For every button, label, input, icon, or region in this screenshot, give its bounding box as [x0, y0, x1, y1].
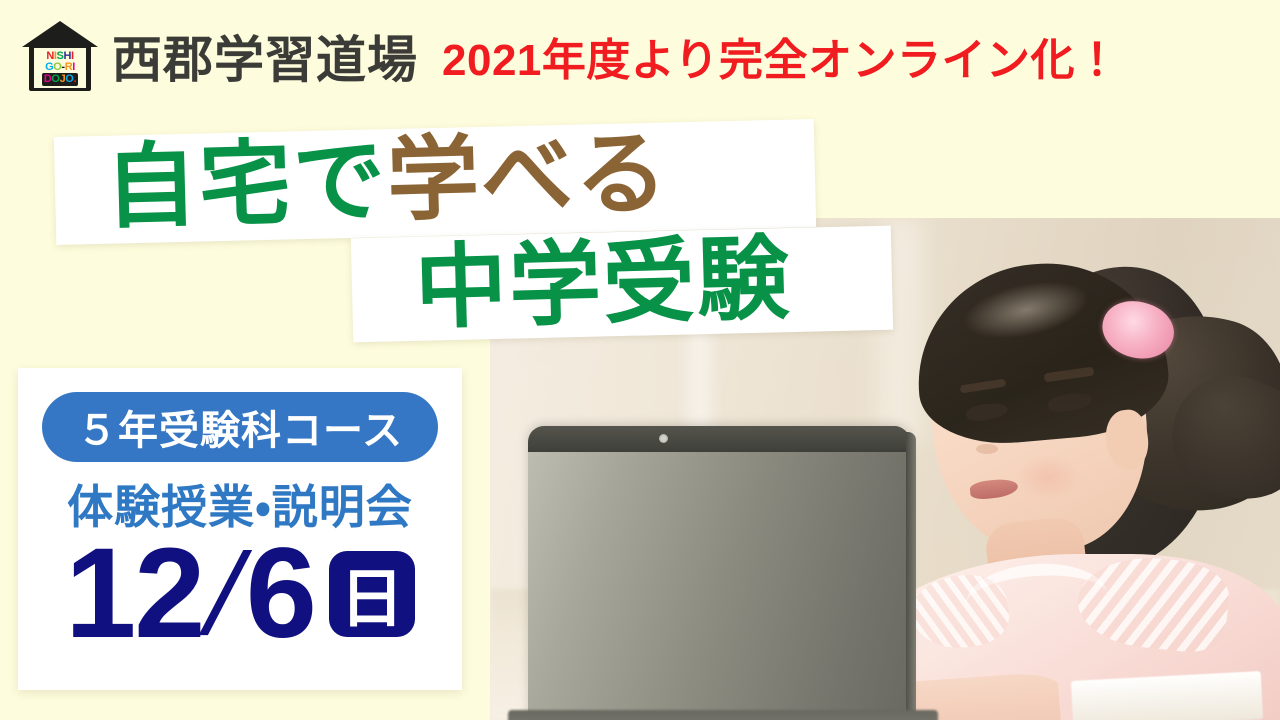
headline-line-1-green: 自宅で: [104, 130, 389, 239]
laptop-screen-back: [528, 426, 910, 720]
brand-name: 西郡学習道場: [112, 20, 418, 92]
girl-nose: [976, 444, 998, 454]
headline-line-2: 中学受験: [414, 229, 793, 339]
event-info-card: ５年受験科コース 体験授業・説明会 12 / 6 日: [18, 368, 462, 690]
logo-inner: NISHI GO-RI DOJO.: [34, 48, 86, 88]
event-date-dayofweek-badge: 日: [329, 551, 415, 637]
laptop-camera-icon: [659, 434, 668, 443]
logo-roof: [22, 21, 98, 47]
event-date-day: 6: [246, 530, 317, 658]
course-badge-label: ５年受験科コース: [77, 398, 403, 456]
laptop-side-edge: [906, 432, 916, 720]
headline-line-1-brown: 学べる: [386, 123, 671, 232]
laptop-hinge-bezel: [528, 426, 910, 452]
logo-text-dojo: DOJO.: [42, 73, 78, 86]
event-date-month: 12: [65, 530, 203, 658]
girl-cheek: [1016, 454, 1080, 500]
promo-banner: NISHI GO-RI DOJO. 西郡学習道場 2021年度より完全オンライン…: [0, 0, 1280, 720]
headline-line-1: 自宅で学べる: [104, 124, 670, 239]
banner-header: NISHI GO-RI DOJO. 西郡学習道場 2021年度より完全オンライン…: [0, 0, 1280, 112]
logo-text-gori: GO-RI: [45, 62, 75, 73]
course-badge: ５年受験科コース: [42, 392, 438, 462]
event-date: 12 / 6 日: [18, 530, 462, 658]
laptop-base: [508, 710, 938, 720]
online-tagline: 2021年度より完全オンライン化！: [442, 24, 1120, 88]
house-logo-icon: NISHI GO-RI DOJO.: [22, 21, 98, 91]
